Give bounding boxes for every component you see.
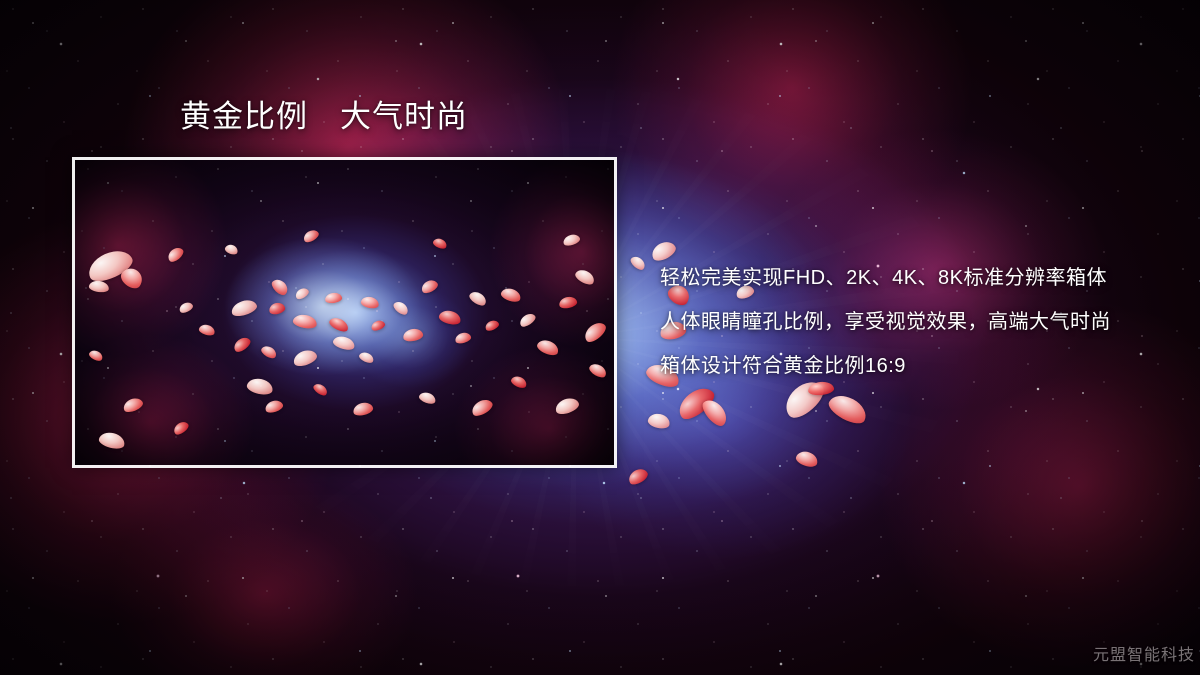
petal-icon [518,311,538,329]
petal-icon [573,267,596,287]
watermark: 元盟智能科技 [1093,641,1195,665]
petal-icon [825,390,871,428]
petal-icon [699,396,731,430]
petal-icon [269,276,290,297]
petal-icon [587,361,608,380]
framed-photo [72,157,617,468]
photo-red-nebula [75,160,614,465]
petal-icon [510,374,529,390]
photo-starfield-medium-icon [75,160,614,465]
petal-icon [328,315,351,334]
petal-icon [88,348,105,362]
petal-icon [553,395,580,416]
petal-icon [392,299,411,317]
petal-icon [324,292,342,304]
body-line: 轻松完美实现FHD、2K、4K、8K标准分辨率箱体 [660,256,1160,300]
petal-icon [484,319,500,333]
petal-icon [418,390,437,405]
presentation-slide: 黄金比例 大气时尚 轻松完美实现FHD、2K、4K、8K标准分辨率箱体 人体眼睛… [0,0,1200,675]
photo-vignette [75,160,614,465]
petal-icon [332,334,356,352]
photo-blue-core [75,160,614,465]
petal-icon [294,286,311,301]
petal-icon [291,347,318,368]
photo-starfield-small-icon [75,160,614,465]
petal-icon [165,245,185,264]
petal-icon [268,301,286,316]
petal-icon [419,278,439,296]
petal-icon [562,233,581,248]
petal-icon [224,243,239,256]
petal-icon [84,245,136,287]
petal-icon [469,396,495,418]
petal-icon [198,323,216,337]
petal-icon [88,280,109,294]
body-text-block: 轻松完美实现FHD、2K、4K、8K标准分辨率箱体 人体眼睛瞳孔比例，享受视觉效… [660,256,1160,388]
petal-icon [360,295,380,310]
petal-icon [454,331,472,345]
petal-icon [581,319,608,345]
petal-icon [647,412,671,430]
petal-icon [178,300,195,314]
petal-icon [673,382,718,424]
petal-icon [794,449,819,469]
petal-icon [118,264,146,291]
page-title: 黄金比例 大气时尚 [180,101,468,132]
petal-icon [98,430,127,451]
body-line: 箱体设计符合黄金比例16:9 [660,344,1160,388]
petal-icon [260,344,279,361]
petal-icon [229,297,258,318]
petal-icon [292,313,318,330]
petal-icon [558,295,578,310]
petal-icon [302,228,321,245]
petal-icon [370,319,386,333]
petal-icon [500,286,523,304]
petal-icon [312,382,329,398]
petal-icon [402,327,424,342]
photo-base-gradient [75,160,614,465]
petal-icon [438,309,462,327]
petal-icon [352,401,374,417]
petal-icon [172,419,191,436]
petal-icon [358,350,375,364]
petal-icon [629,254,648,272]
petal-icon [231,335,252,354]
petal-icon [432,237,448,251]
petal-icon [121,396,144,415]
body-line: 人体眼睛瞳孔比例，享受视觉效果，高端大气时尚 [660,300,1160,344]
petal-icon [467,289,488,308]
petal-icon [264,398,285,414]
petal-icon [246,376,275,396]
petal-icon [535,337,560,357]
petal-icon [626,466,650,487]
